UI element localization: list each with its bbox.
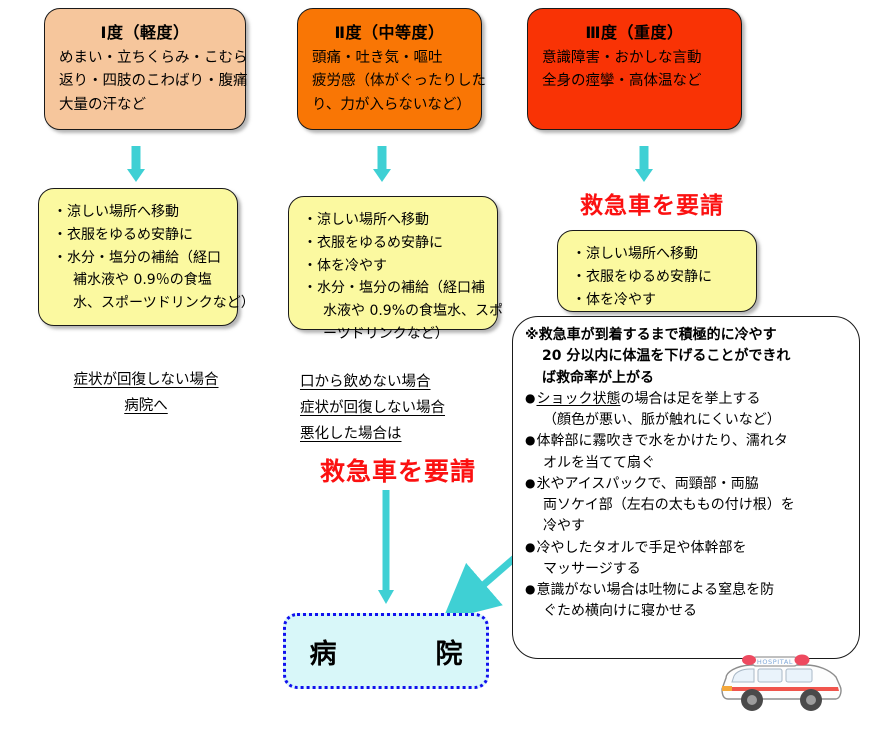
note-line-text: 体幹部に霧吹きで水をかけたり、濡れタ: [536, 433, 787, 449]
severity-symptom-line: 疲労感（体がぐったりした: [312, 70, 467, 93]
severity-symptom-line: 返り・四肢のこわばり・腹痛: [59, 70, 231, 93]
note-line-rest: の場合は足を挙上する: [620, 391, 760, 407]
call-ambulance-heading-level-3: 救急車を要請: [580, 186, 724, 220]
note-line: ※救急車が到着するまで積極的に冷やす: [525, 325, 853, 346]
severity-symptom-line: 全身の痙攣・高体温など: [542, 70, 727, 93]
care-line: ・涼しい場所へ移動: [53, 201, 227, 224]
note-emphasis: ショック状態: [536, 391, 620, 407]
note-line: オルを当てて扇ぐ: [525, 453, 853, 474]
note-line: （顔色が悪い、脈が触れにくいなど）: [525, 410, 853, 431]
care-line: ・水分・塩分の補給（経口補: [303, 277, 487, 300]
condition-line: 病院へ: [115, 394, 177, 420]
bullet-icon: ●: [525, 433, 535, 447]
severity-title-level-2: Ⅱ度（中等度）: [312, 19, 467, 43]
severity-symptom-line: 頭痛・吐き気・嘔吐: [312, 47, 467, 70]
bullet-icon: ●: [525, 391, 535, 405]
note-line-bulleted: ●体幹部に霧吹きで水をかけたり、濡れタ: [525, 431, 853, 452]
condition-line: 症状が回復しない場合: [74, 368, 219, 394]
care-line: ・水分・塩分の補給（経口: [53, 247, 227, 270]
note-line: ぐため横向けに寝かせる: [525, 601, 853, 622]
note-line-text: 意識がない場合は吐物による窒息を防: [536, 582, 774, 598]
care-line: ・涼しい場所へ移動: [303, 209, 487, 232]
severity-symptom-line: り、力が入らないなど）: [312, 94, 467, 117]
note-line-text: 冷やしたタオルで手足や体幹部を: [536, 540, 746, 556]
care-line: ・体を冷やす: [303, 255, 487, 278]
care-box-level-2: ・涼しい場所へ移動 ・衣服をゆるめ安静に ・体を冷やす ・水分・塩分の補給（経口…: [288, 196, 498, 330]
care-box-level-1: ・涼しい場所へ移動 ・衣服をゆるめ安静に ・水分・塩分の補給（経口 補水液や 0…: [38, 188, 238, 326]
condition-line: 症状が回復しない場合: [300, 396, 445, 422]
condition-line: 口から飲めない場合: [300, 370, 445, 396]
hospital-label: 病 院: [295, 632, 478, 671]
care-line: 水、スポーツドリンクなど）: [53, 292, 227, 315]
condition-text-column-1: 症状が回復しない場合 病院へ: [66, 368, 226, 420]
care-line: ・体を冷やす: [572, 289, 746, 312]
ambulance-icon: HOSPITAL: [714, 648, 850, 720]
note-line-bulleted: ●ショック状態の場合は足を挙上する: [525, 389, 853, 410]
severity-symptom-line: 大量の汗など: [59, 94, 231, 117]
bullet-icon: ●: [525, 476, 535, 490]
bullet-icon: ●: [525, 540, 535, 554]
note-line: マッサージする: [525, 559, 853, 580]
bullet-icon: ●: [525, 582, 535, 596]
care-line: 水液や 0.9%の食塩水、スポ: [303, 300, 487, 323]
care-line: ・涼しい場所へ移動: [572, 243, 746, 266]
care-line: ・衣服をゆるめ安静に: [572, 266, 746, 289]
note-line: ば救命率が上がる: [525, 368, 853, 389]
severity-symptom-line: めまい・立ちくらみ・こむら: [59, 47, 231, 70]
emergency-instructions-panel: ※救急車が到着するまで積極的に冷やす 20 分以内に体温を下げることができれ ば…: [512, 316, 860, 659]
hospital-box: 病 院: [283, 613, 489, 689]
severity-symptom-line: 意識障害・おかしな言動: [542, 47, 727, 70]
note-line-bulleted: ●冷やしたタオルで手足や体幹部を: [525, 538, 853, 559]
care-line: ーツドリンクなど）: [303, 323, 487, 346]
care-line: 補水液や 0.9％の食塩: [53, 269, 227, 292]
ambulance-badge-text: HOSPITAL: [757, 658, 793, 666]
note-line-bulleted: ●意識がない場合は吐物による窒息を防: [525, 580, 853, 601]
note-line: 冷やす: [525, 516, 853, 537]
note-line-text: 氷やアイスパックで、両頸部・両脇: [536, 476, 758, 492]
condition-line: 悪化した場合は: [300, 422, 445, 448]
note-line: 両ソケイ部（左右の太ももの付け根）を: [525, 495, 853, 516]
severity-box-level-3: Ⅲ度（重度） 意識障害・おかしな言動 全身の痙攣・高体温など: [527, 8, 742, 130]
severity-title-level-1: Ⅰ度（軽度）: [59, 19, 231, 43]
severity-title-level-3: Ⅲ度（重度）: [542, 19, 727, 43]
care-line: ・衣服をゆるめ安静に: [53, 224, 227, 247]
severity-box-level-1: Ⅰ度（軽度） めまい・立ちくらみ・こむら 返り・四肢のこわばり・腹痛 大量の汗な…: [44, 8, 246, 130]
call-ambulance-heading-level-2: 救急車を要請: [320, 452, 476, 488]
severity-box-level-2: Ⅱ度（中等度） 頭痛・吐き気・嘔吐 疲労感（体がぐったりした り、力が入らないな…: [297, 8, 482, 130]
flowchart-canvas: Ⅰ度（軽度） めまい・立ちくらみ・こむら 返り・四肢のこわばり・腹痛 大量の汗な…: [0, 0, 873, 731]
note-line-bulleted: ●氷やアイスパックで、両頸部・両脇: [525, 474, 853, 495]
condition-text-column-2: 口から飲めない場合 症状が回復しない場合 悪化した場合は: [300, 370, 445, 447]
care-line: ・衣服をゆるめ安静に: [303, 232, 487, 255]
care-box-level-3: ・涼しい場所へ移動 ・衣服をゆるめ安静に ・体を冷やす: [557, 230, 757, 312]
note-line: 20 分以内に体温を下げることができれ: [525, 346, 853, 367]
